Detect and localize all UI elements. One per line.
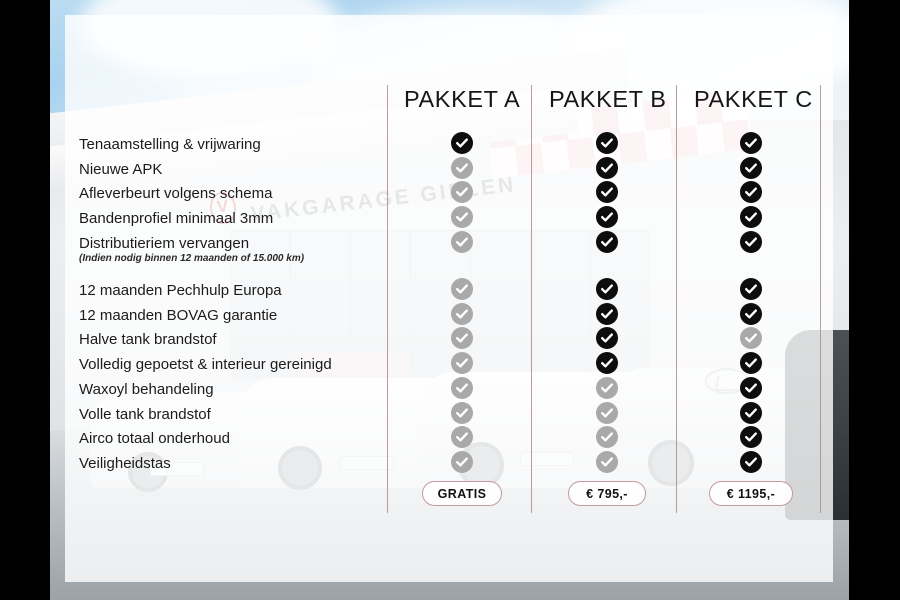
feature-label: Bandenprofiel minimaal 3mm <box>79 210 273 227</box>
column-header-c: PAKKET C <box>694 86 813 113</box>
check-icon-a-excluded <box>451 426 473 448</box>
check-icon-c-excluded <box>740 327 762 349</box>
check-icon-a-excluded <box>451 451 473 473</box>
check-icon-c-included <box>740 402 762 424</box>
check-icon-c-included <box>740 377 762 399</box>
check-icon-b-included <box>596 206 618 228</box>
check-icon-a-excluded <box>451 206 473 228</box>
check-icon-b-included <box>596 132 618 154</box>
check-icon-a-excluded <box>451 278 473 300</box>
check-icon-b-excluded <box>596 426 618 448</box>
check-icon-b-included <box>596 231 618 253</box>
check-icon-b-included <box>596 327 618 349</box>
check-icon-a-excluded <box>451 352 473 374</box>
price-button-a[interactable]: GRATIS <box>422 481 502 506</box>
check-icon-b-included <box>596 352 618 374</box>
feature-label: Nieuwe APK <box>79 161 162 178</box>
feature-label: 12 maanden Pechhulp Europa <box>79 282 282 299</box>
column-header-a: PAKKET A <box>404 86 520 113</box>
check-icon-c-included <box>740 132 762 154</box>
feature-label: Airco totaal onderhoud <box>79 430 230 447</box>
price-button-b[interactable]: € 795,- <box>568 481 646 506</box>
feature-label: Tenaamstelling & vrijwaring <box>79 136 261 153</box>
check-icon-b-excluded <box>596 402 618 424</box>
check-icon-c-included <box>740 157 762 179</box>
feature-label: 12 maanden BOVAG garantie <box>79 307 277 324</box>
pricing-table: PAKKET AGRATISPAKKET B€ 795,-PAKKET C€ 1… <box>0 0 900 600</box>
feature-label: Halve tank brandstof <box>79 331 217 348</box>
check-icon-c-included <box>740 426 762 448</box>
feature-label: Volle tank brandstof <box>79 406 211 423</box>
check-icon-b-excluded <box>596 451 618 473</box>
letterbox-bar-left <box>0 0 50 600</box>
check-icon-b-included <box>596 181 618 203</box>
feature-label: Veiligheidstas <box>79 455 171 472</box>
feature-note: (Indien nodig binnen 12 maanden of 15.00… <box>79 253 304 264</box>
check-icon-a-included <box>451 132 473 154</box>
check-icon-a-excluded <box>451 231 473 253</box>
feature-label: Volledig gepoetst & interieur gereinigd <box>79 356 332 373</box>
check-icon-b-included <box>596 303 618 325</box>
check-icon-c-included <box>740 451 762 473</box>
check-icon-b-excluded <box>596 377 618 399</box>
check-icon-a-excluded <box>451 377 473 399</box>
check-icon-a-excluded <box>451 303 473 325</box>
check-icon-c-included <box>740 231 762 253</box>
check-icon-b-included <box>596 157 618 179</box>
check-icon-c-included <box>740 352 762 374</box>
check-icon-c-included <box>740 206 762 228</box>
feature-label: Afleverbeurt volgens schema <box>79 185 272 202</box>
column-header-b: PAKKET B <box>549 86 667 113</box>
check-icon-a-excluded <box>451 327 473 349</box>
screenshot-stage: VAKGARAGE GIELEN PAKKET AGRATISPAKKET B€… <box>0 0 900 600</box>
feature-label: Waxoyl behandeling <box>79 381 214 398</box>
price-button-c[interactable]: € 1195,- <box>709 481 793 506</box>
check-icon-c-included <box>740 303 762 325</box>
check-icon-a-excluded <box>451 402 473 424</box>
letterbox-bar-right <box>849 0 900 600</box>
check-icon-b-included <box>596 278 618 300</box>
feature-label: Distributieriem vervangen <box>79 235 249 252</box>
check-icon-c-included <box>740 278 762 300</box>
check-icon-c-included <box>740 181 762 203</box>
check-icon-a-excluded <box>451 157 473 179</box>
check-icon-a-excluded <box>451 181 473 203</box>
